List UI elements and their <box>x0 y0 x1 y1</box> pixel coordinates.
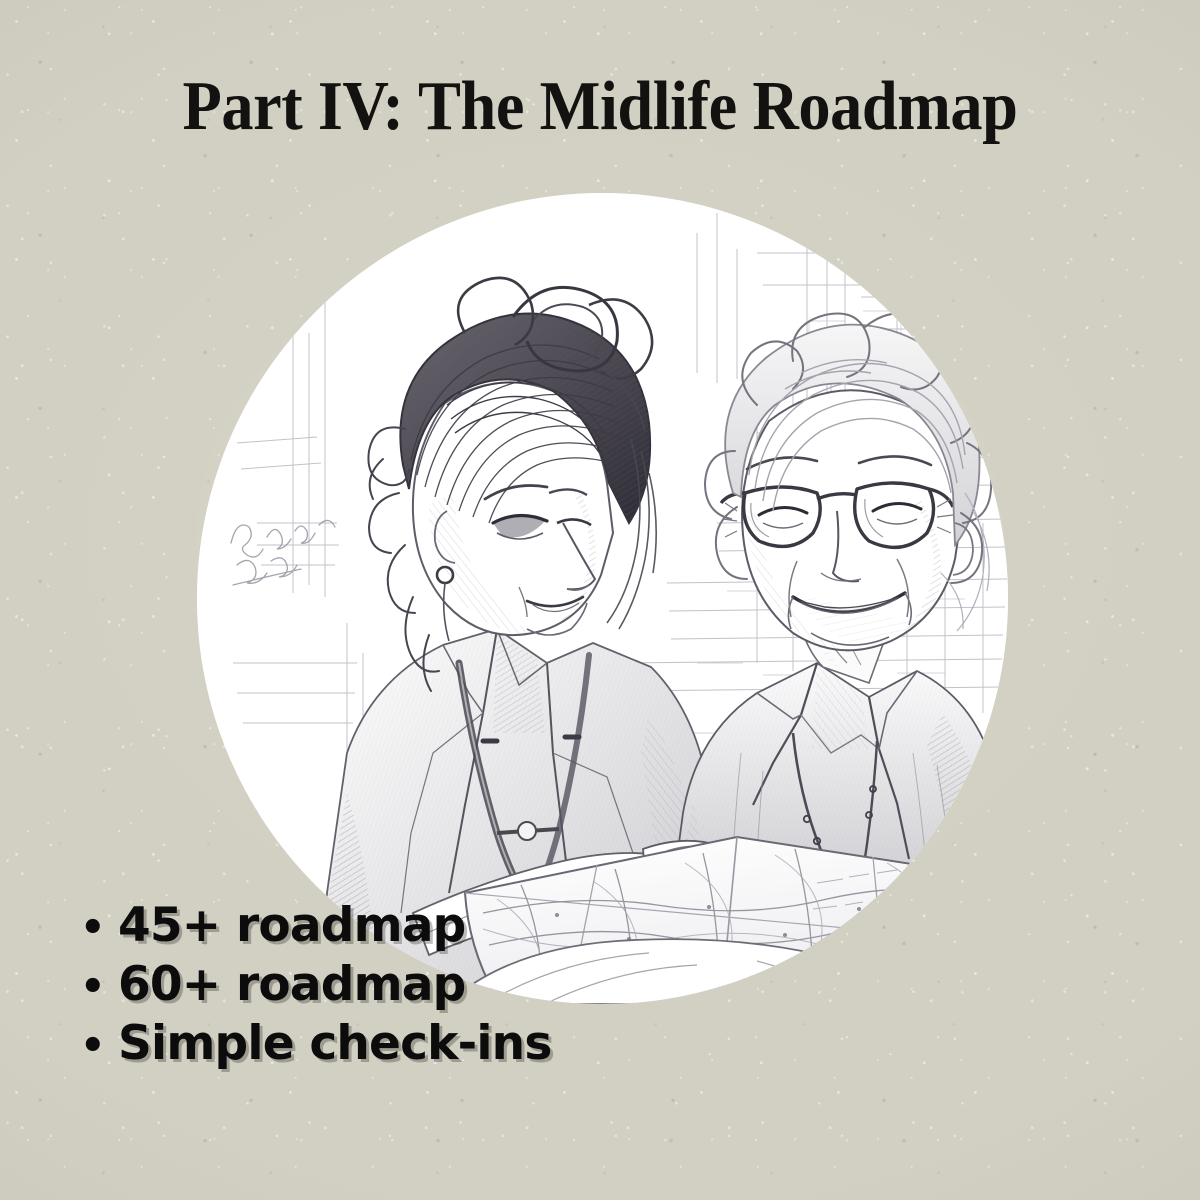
pencil-sketch-illustration <box>197 193 1008 1004</box>
list-item: • 45+ roadmap <box>80 896 780 955</box>
bullet-label: 45+ roadmap <box>118 896 466 955</box>
bullet-marker-icon: • <box>80 958 118 1017</box>
bullet-marker-icon: • <box>80 899 118 958</box>
bullet-marker-icon: • <box>80 1017 118 1076</box>
feature-bullet-list: • 45+ roadmap • 60+ roadmap • Simple che… <box>80 896 780 1073</box>
list-item: • 60+ roadmap <box>80 955 780 1014</box>
bullet-label: 60+ roadmap <box>118 955 466 1014</box>
page-title: Part IV: The Midlife Roadmap <box>48 72 1152 142</box>
slide-canvas: Part IV: The Midlife Roadmap <box>0 0 1200 1200</box>
illustration-circle <box>197 193 1008 1004</box>
list-item: • Simple check-ins <box>80 1014 780 1073</box>
bullet-label: Simple check-ins <box>118 1014 552 1073</box>
